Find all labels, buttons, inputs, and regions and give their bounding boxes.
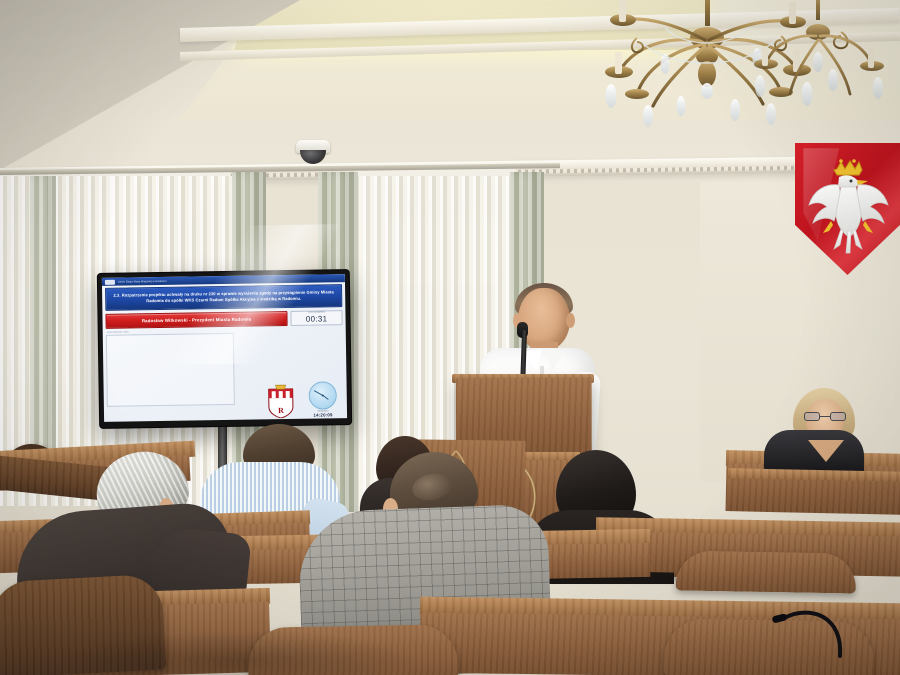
chair <box>676 550 857 593</box>
screen-logos: R 25.08.2022 14:20:09 <box>268 381 339 418</box>
radom-crest-letter: R <box>278 406 284 415</box>
ear-right <box>566 313 575 328</box>
speaker-name-banner: Radosław Witkowski - Prezydent Miasta Ra… <box>105 311 287 329</box>
presentation-display: XXVII Sesja Rady Miejskiej w Radomiu 2.3… <box>98 270 351 428</box>
agenda-item-text: 2.3. Rozpatrzenie projektu uchwały na dr… <box>113 289 334 304</box>
torso <box>764 430 864 474</box>
clock-time: 14:20:09 <box>308 412 338 417</box>
speech-timer: Czas wystąpienia 00:31 <box>290 310 342 326</box>
glasses-bridge <box>820 416 830 417</box>
screen-body: Lista mówców / Głos <box>106 327 344 422</box>
speaker-list-pane <box>106 333 235 407</box>
council-chamber-photo: XXVII Sesja Rady Miejskiej w Radomiu 2.3… <box>0 0 900 675</box>
white-eagle-icon <box>801 157 894 257</box>
radom-crest-icon: R <box>268 384 295 418</box>
display-screen: XXVII Sesja Rady Miejskiej w Radomiu 2.3… <box>102 274 347 422</box>
desk-microphone <box>770 596 850 658</box>
speaker-name-text: Radosław Witkowski - Prezydent Miasta Ra… <box>142 316 252 323</box>
screen-logo-icon <box>105 279 115 284</box>
eyeglasses-icon <box>804 412 846 421</box>
agenda-panel: 2.3. Rozpatrzenie projektu uchwały na dr… <box>105 284 342 311</box>
speaker-row: Radosław Witkowski - Prezydent Miasta Ra… <box>105 310 342 329</box>
chair <box>0 574 166 675</box>
chandelier-secondary <box>742 2 900 112</box>
screen-session-title: XXVII Sesja Rady Miejskiej w Radomiu <box>118 279 167 283</box>
lens-right <box>830 412 846 421</box>
timer-value: 00:31 <box>306 315 328 324</box>
session-clock: 25.08.2022 14:20:09 <box>308 381 339 417</box>
clock-center-pin <box>322 394 324 396</box>
clock-face-icon <box>309 381 337 409</box>
lens-left <box>804 412 820 421</box>
chair <box>247 624 458 675</box>
drape-panel <box>30 176 56 476</box>
polish-coat-of-arms <box>795 143 900 275</box>
